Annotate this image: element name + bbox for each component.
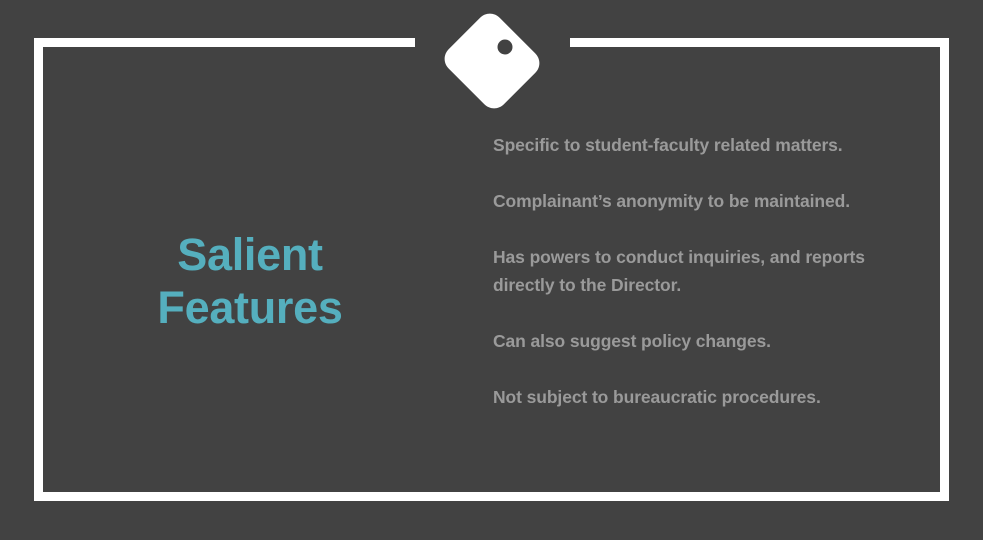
list-item: Can also suggest policy changes.	[493, 327, 925, 355]
frame-border-left	[34, 38, 43, 501]
frame-border-top-left	[34, 38, 415, 47]
list-item: Specific to student-faculty related matt…	[493, 131, 925, 159]
tag-icon	[442, 12, 542, 110]
list-item: Has powers to conduct inquiries, and rep…	[493, 243, 925, 299]
presentation-slide: Salient Features Specific to student-fac…	[0, 0, 983, 540]
list-item: Not subject to bureaucratic procedures.	[493, 383, 925, 411]
page-title-line-1: Salient	[60, 228, 440, 281]
page-title-line-2: Features	[60, 281, 440, 334]
page-title: Salient Features	[60, 228, 440, 334]
frame-border-bottom	[34, 492, 949, 501]
features-list: Specific to student-faculty related matt…	[493, 131, 925, 411]
frame-border-top-right	[570, 38, 949, 47]
frame-border-right	[940, 38, 949, 501]
list-item: Complainant’s anonymity to be maintained…	[493, 187, 925, 215]
